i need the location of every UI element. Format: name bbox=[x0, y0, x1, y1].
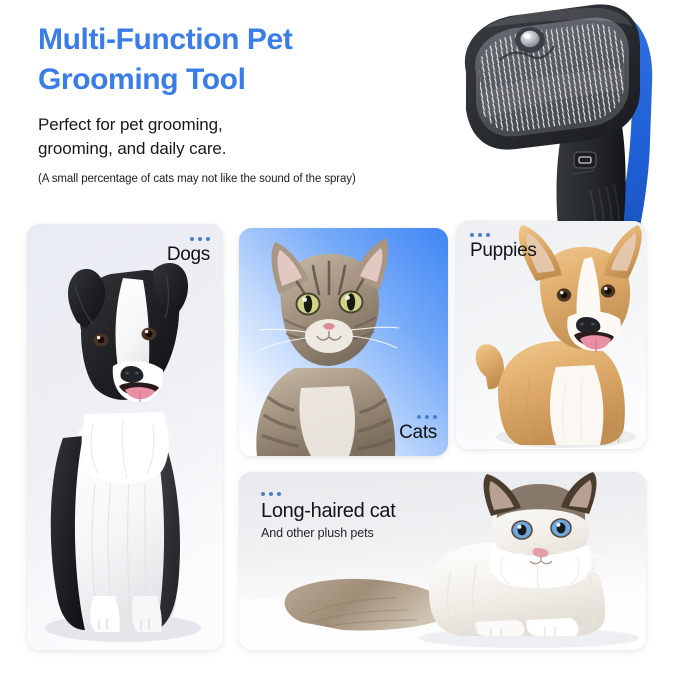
brush-spray-nozzle bbox=[515, 27, 545, 53]
subtitle: Perfect for pet grooming, grooming, and … bbox=[38, 113, 368, 161]
card-long-haired-tag: Long-haired cat And other plush pets bbox=[261, 492, 396, 540]
card-puppies[interactable]: Puppies bbox=[456, 221, 646, 449]
dots-indicator-cats bbox=[399, 415, 437, 419]
dots-indicator-puppies bbox=[470, 233, 537, 237]
card-dogs[interactable]: Dogs bbox=[27, 224, 223, 650]
dots-indicator-dogs bbox=[167, 237, 210, 241]
card-dogs-label: Dogs bbox=[167, 244, 210, 266]
card-puppies-tag: Puppies bbox=[470, 233, 537, 262]
dots-indicator-long-haired bbox=[261, 492, 396, 496]
headline-line-1: Multi-Function Pet bbox=[38, 23, 292, 56]
card-long-haired-label: Long-haired cat bbox=[261, 500, 396, 523]
card-puppies-label: Puppies bbox=[470, 240, 537, 262]
card-long-haired-cat[interactable]: Long-haired cat And other plush pets bbox=[239, 472, 646, 650]
product-marketing-image: Multi-Function Pet Grooming Tool Perfect… bbox=[0, 0, 679, 679]
card-cats-label: Cats bbox=[399, 422, 437, 444]
photo-border-collie bbox=[27, 224, 223, 650]
card-long-haired-sublabel: And other plush pets bbox=[261, 526, 396, 540]
headline-line-2: Grooming Tool bbox=[38, 60, 438, 100]
page-title: Multi-Function Pet Grooming Tool bbox=[38, 20, 438, 100]
handle-power-button[interactable] bbox=[574, 152, 596, 168]
subtitle-line-1: Perfect for pet grooming, bbox=[38, 115, 223, 134]
brush-pin-plate bbox=[475, 18, 629, 137]
card-dogs-tag: Dogs bbox=[167, 237, 210, 266]
disclaimer-note: (A small percentage of cats may not like… bbox=[38, 172, 478, 187]
card-cats-tag: Cats bbox=[399, 415, 437, 444]
subtitle-line-2: grooming, and daily care. bbox=[38, 139, 226, 158]
card-cats[interactable]: Cats bbox=[239, 228, 448, 456]
